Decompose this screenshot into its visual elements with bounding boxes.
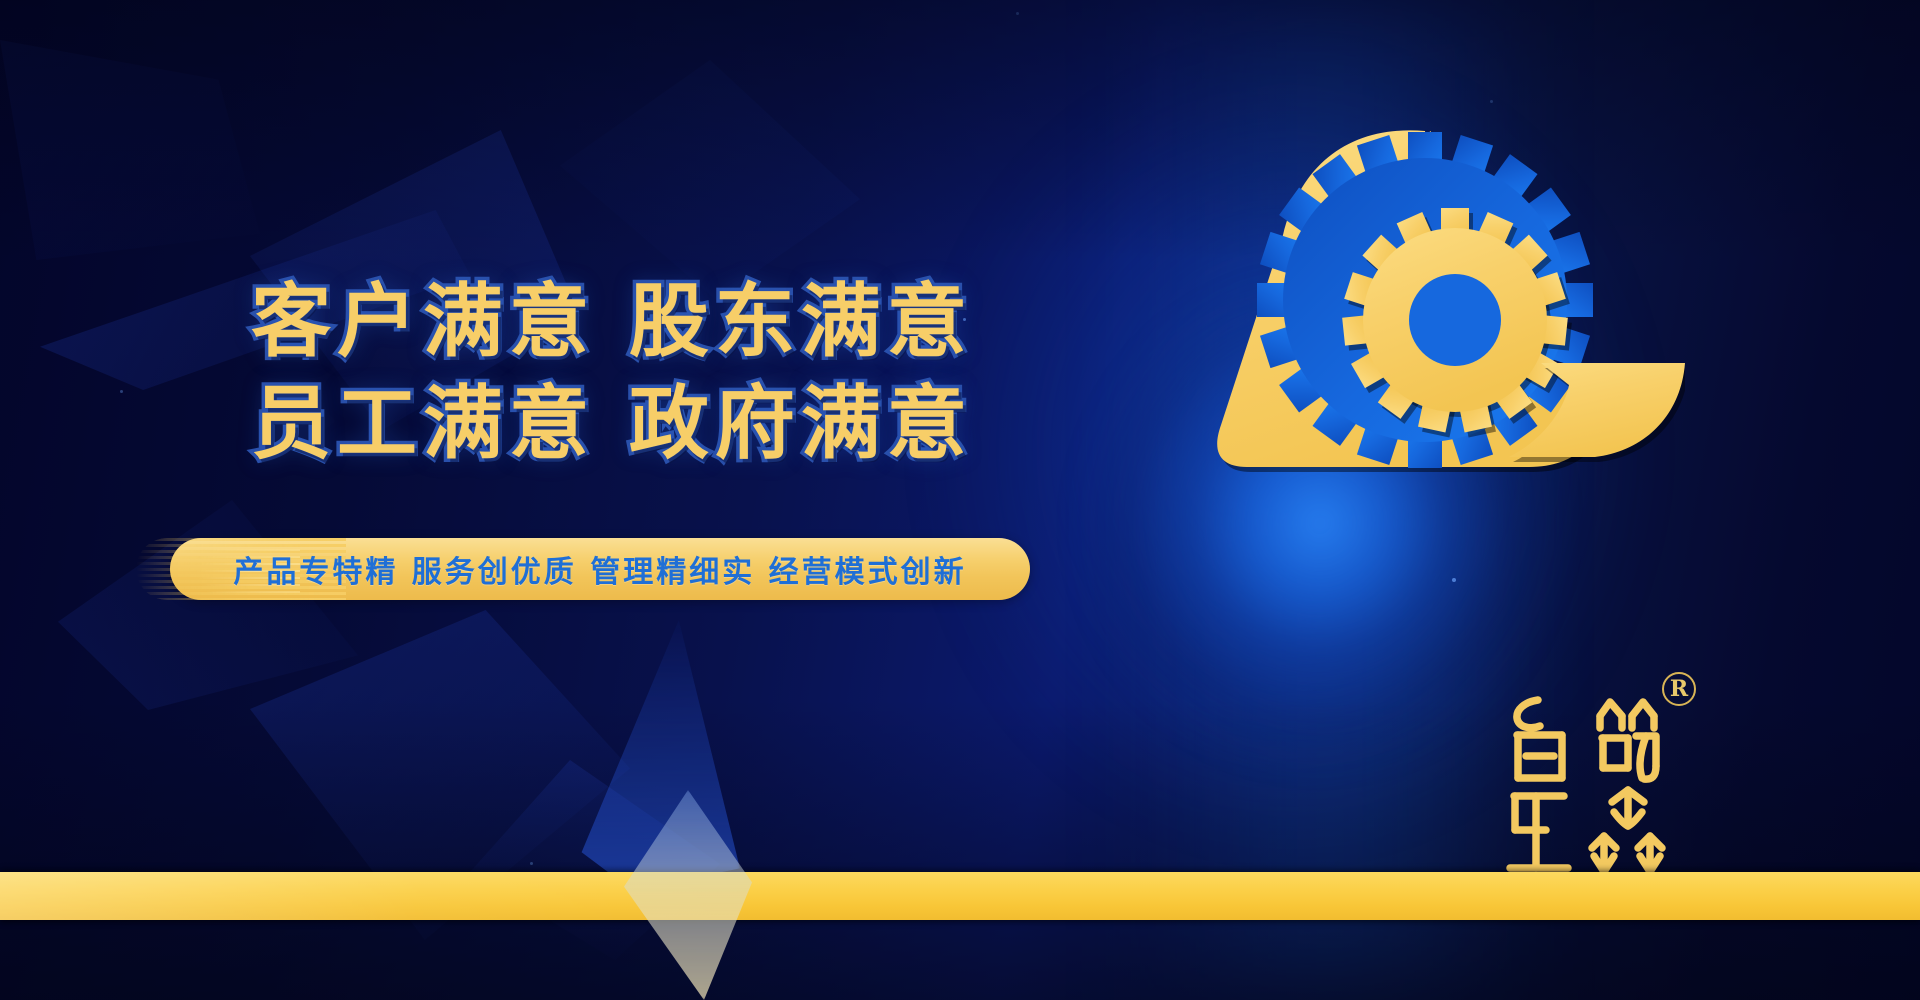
brand-wordmark: R bbox=[1490, 690, 1690, 880]
main-slogan: 客户满意 股东满意 员工满意 政府满意 bbox=[232, 270, 992, 475]
slogan-line-2: 员工满意 政府满意 bbox=[232, 372, 992, 474]
registered-trademark-icon: R bbox=[1662, 672, 1696, 706]
banner-canvas: 客户满意 股东满意 员工满意 政府满意 产品专特精 服务创优质 管理精细实 经营… bbox=[0, 0, 1920, 1000]
values-pill-banner: 产品专特精 服务创优质 管理精细实 经营模式创新 bbox=[170, 538, 1030, 600]
pill-text: 产品专特精 服务创优质 管理精细实 经营模式创新 bbox=[170, 538, 1030, 600]
company-logo bbox=[1125, 95, 1685, 495]
slogan-line-1: 客户满意 股东满意 bbox=[232, 270, 992, 372]
gold-accent-bar bbox=[0, 872, 1920, 920]
